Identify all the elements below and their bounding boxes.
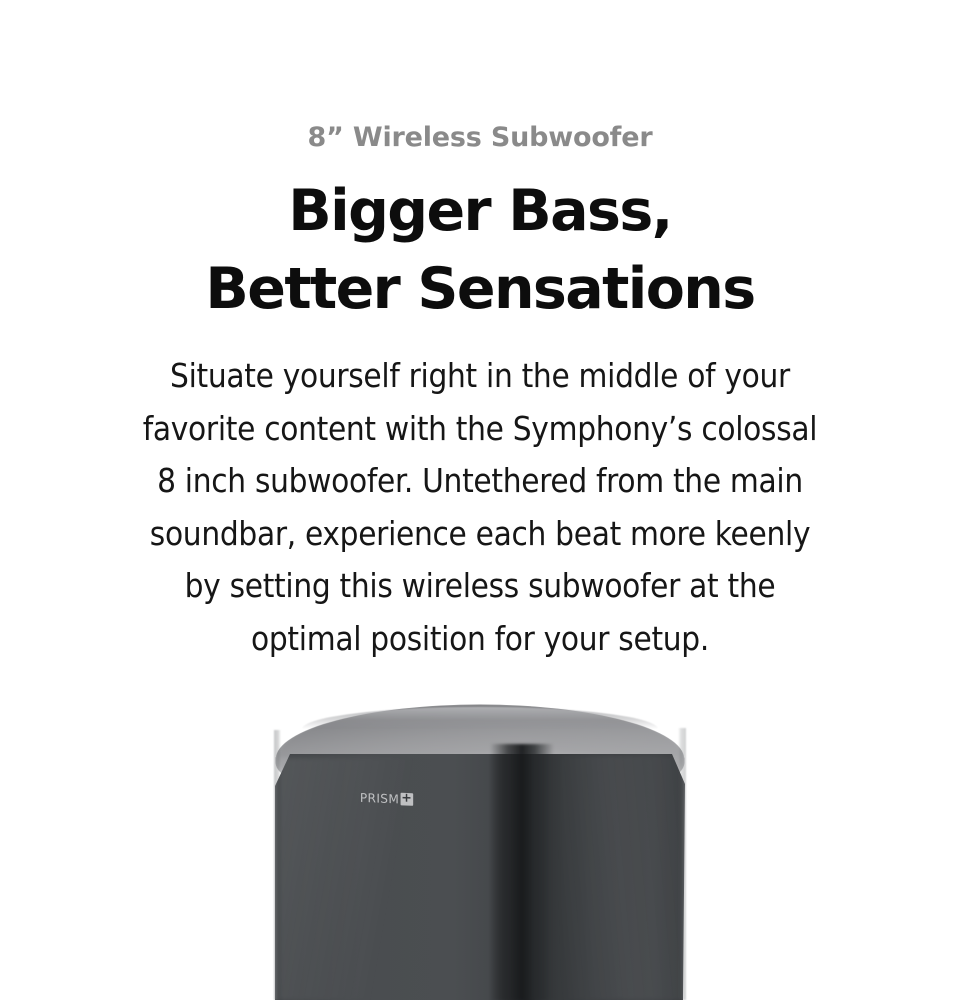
subwoofer-top-rim [302,707,658,729]
subwoofer-left-edge-highlight [274,730,281,1000]
headline-line-2: Better Sensations [0,250,960,328]
brand-logo: PRISM + [360,791,413,806]
subwoofer-right-face-sheen [560,756,686,1000]
description-line-6: optimal position for your setup. [85,613,875,666]
description-line-2: favorite content with the Symphony’s col… [85,403,875,456]
description-line-1: Situate yourself right in the middle of … [85,350,875,403]
description-paragraph: Situate yourself right in the middle of … [85,328,875,665]
description-line-3: 8 inch subwoofer. Untethered from the ma… [85,455,875,508]
eyebrow-label: 8” Wireless Subwoofer [0,0,960,158]
page-title: Bigger Bass, Better Sensations [0,158,960,328]
subwoofer-image: PRISM + [274,700,686,1000]
description-line-4: soundbar, experience each beat more keen… [85,508,875,561]
product-image-area: PRISM + [0,700,960,1000]
description-line-5: by setting this wireless subwoofer at th… [85,560,875,613]
brand-logo-text: PRISM [360,792,399,805]
hero-text-block: 8” Wireless Subwoofer Bigger Bass, Bette… [0,0,960,665]
headline-line-1: Bigger Bass, [0,172,960,250]
product-feature-page: 8” Wireless Subwoofer Bigger Bass, Bette… [0,0,960,1000]
subwoofer-right-edge-highlight [678,728,686,1000]
subwoofer-front-corner-edge [490,744,554,1000]
brand-plus-icon: + [400,793,413,806]
